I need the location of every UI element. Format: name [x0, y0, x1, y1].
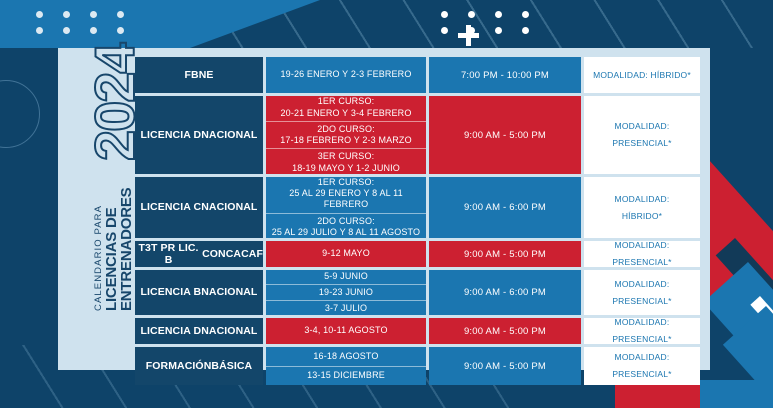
date-entry: 16-18 AGOSTO — [266, 347, 426, 366]
time-cell: 9:00 AM - 6:00 PM — [429, 270, 581, 315]
modality-line: PRESENCIAL* — [612, 135, 671, 152]
date-entry: 3-4, 10-11 AGOSTO — [266, 318, 426, 344]
modality-line: MODALIDAD: PRESENCIAL* — [584, 349, 700, 383]
vertical-title-block: CALENDARIO PARA LICENCIAS DE ENTRENADORE… — [67, 57, 135, 361]
course-name-line: LICENCIA B — [141, 286, 202, 298]
date-entry: 3ER CURSO:18-19 MAYO Y 1-2 JUNIO — [266, 148, 426, 176]
course-name-cell: LICENCIA DNACIONAL — [135, 318, 263, 344]
date-entry-label: 1ER CURSO: — [318, 96, 375, 107]
table-row: T3T PR LIC. BCONCACAF9-12 MAYO9:00 AM - … — [135, 241, 700, 267]
course-name-cell: FBNE — [135, 57, 263, 93]
date-entry-label: 3ER CURSO: — [318, 151, 375, 162]
modality-cell: MODALIDAD: HÍBRIDO* — [584, 57, 700, 93]
dates-cell: 19-26 ENERO Y 2-3 FEBRERO — [266, 57, 426, 93]
modality-line: HÍBRIDO* — [622, 208, 662, 225]
date-entry-label: 2DO CURSO: — [317, 216, 375, 227]
dates-cell: 1ER CURSO:20-21 ENERO Y 3-4 FEBRERO2DO C… — [266, 96, 426, 174]
title-line-licencias: LICENCIAS DE — [104, 208, 119, 311]
course-name-line: CONCACAF — [202, 248, 263, 260]
course-name-line: LICENCIA C — [141, 201, 202, 213]
dates-cell: 9-12 MAYO — [266, 241, 426, 267]
course-name-line: FBNE — [185, 69, 214, 81]
dates-cell: 16-18 AGOSTO13-15 DICIEMBRE — [266, 347, 426, 385]
table-row: FORMACIÓNBÁSICA16-18 AGOSTO13-15 DICIEMB… — [135, 347, 700, 385]
table-row: FBNE19-26 ENERO Y 2-3 FEBRERO7:00 PM - 1… — [135, 57, 700, 93]
course-name-cell: FORMACIÓNBÁSICA — [135, 347, 263, 385]
course-name-line: T3T PR LIC. B — [135, 242, 202, 266]
course-name-cell: LICENCIA CNACIONAL — [135, 177, 263, 238]
date-entry: 2DO CURSO:17-18 FEBRERO Y 2-3 MARZO — [266, 121, 426, 149]
title-line-entrenadores: ENTRENADORES — [119, 188, 134, 311]
title-line-calendario: CALENDARIO PARA — [94, 205, 104, 311]
date-entry-value: 19-26 ENERO Y 2-3 FEBRERO — [281, 69, 412, 80]
time-cell: 9:00 AM - 5:00 PM — [429, 241, 581, 267]
modality-cell: MODALIDAD:PRESENCIAL* — [584, 96, 700, 174]
time-cell: 9:00 AM - 5:00 PM — [429, 318, 581, 344]
course-name-cell: LICENCIA BNACIONAL — [135, 270, 263, 315]
modality-line: MODALIDAD: PRESENCIAL* — [584, 314, 700, 348]
time-cell: 9:00 AM - 6:00 PM — [429, 177, 581, 238]
modality-cell: MODALIDAD: PRESENCIAL* — [584, 270, 700, 315]
time-cell: 9:00 AM - 5:00 PM — [429, 96, 581, 174]
modality-cell: MODALIDAD: PRESENCIAL* — [584, 347, 700, 385]
course-name-line: LICENCIA D — [141, 129, 202, 141]
course-name-line: NACIONAL — [201, 201, 257, 213]
date-entry-value: 5-9 JUNIO — [324, 271, 368, 282]
date-entry-value: 25 AL 29 ENERO Y 8 AL 11 FEBRERO — [269, 188, 423, 211]
date-entry-label: 1ER CURSO: — [318, 177, 375, 188]
date-entry: 5-9 JUNIO — [266, 269, 426, 284]
dates-cell: 3-4, 10-11 AGOSTO — [266, 318, 426, 344]
time-cell: 9:00 AM - 5:00 PM — [429, 347, 581, 385]
date-entry-value: 18-19 MAYO Y 1-2 JUNIO — [292, 163, 400, 174]
date-entry-value: 25 AL 29 JULIO Y 8 AL 11 AGOSTO — [272, 227, 420, 238]
date-entry: 2DO CURSO:25 AL 29 JULIO Y 8 AL 11 AGOST… — [266, 213, 426, 241]
date-entry: 19-26 ENERO Y 2-3 FEBRERO — [266, 57, 426, 93]
dates-cell: 5-9 JUNIO19-23 JUNIO3-7 JULIO — [266, 270, 426, 315]
year-label: 2024 — [87, 44, 143, 161]
corner-accent-blue — [700, 380, 773, 408]
date-entry-value: 13-15 DICIEMBRE — [307, 370, 385, 381]
modality-line: MODALIDAD: PRESENCIAL* — [584, 276, 700, 310]
modality-cell: MODALIDAD:HÍBRIDO* — [584, 177, 700, 238]
date-entry-value: 19-23 JUNIO — [319, 287, 373, 298]
date-entry-value: 20-21 ENERO Y 3-4 FEBRERO — [281, 108, 412, 119]
time-cell: 7:00 PM - 10:00 PM — [429, 57, 581, 93]
dot-grid-icon-middle — [441, 11, 529, 34]
course-name-line: BÁSICA — [211, 360, 252, 372]
course-name-line: LICENCIA D — [141, 325, 202, 337]
date-entry-value: 9-12 MAYO — [322, 248, 370, 259]
date-entry-value: 16-18 AGOSTO — [313, 351, 378, 362]
date-entry: 3-7 JULIO — [266, 300, 426, 316]
modality-line: MODALIDAD: PRESENCIAL* — [584, 237, 700, 271]
course-name-line: NACIONAL — [201, 325, 257, 337]
calendar-card: CALENDARIO PARA LICENCIAS DE ENTRENADORE… — [58, 48, 710, 370]
date-entry-value: 3-7 JULIO — [325, 303, 367, 314]
schedule-table: FBNE19-26 ENERO Y 2-3 FEBRERO7:00 PM - 1… — [135, 57, 700, 361]
course-name-line: FORMACIÓN — [146, 360, 212, 372]
modality-cell: MODALIDAD: PRESENCIAL* — [584, 318, 700, 344]
date-entry: 9-12 MAYO — [266, 241, 426, 267]
table-row: LICENCIA DNACIONAL3-4, 10-11 AGOSTO9:00 … — [135, 318, 700, 344]
modality-line: MODALIDAD: HÍBRIDO* — [593, 67, 691, 84]
table-row: LICENCIA BNACIONAL5-9 JUNIO19-23 JUNIO3-… — [135, 270, 700, 315]
date-entry: 13-15 DICIEMBRE — [266, 366, 426, 386]
date-entry: 1ER CURSO:20-21 ENERO Y 3-4 FEBRERO — [266, 94, 426, 121]
course-name-line: NACIONAL — [201, 286, 257, 298]
table-row: LICENCIA CNACIONAL1ER CURSO:25 AL 29 ENE… — [135, 177, 700, 238]
modality-line: MODALIDAD: — [615, 118, 670, 135]
course-name-cell: T3T PR LIC. BCONCACAF — [135, 241, 263, 267]
table-row: LICENCIA DNACIONAL1ER CURSO:20-21 ENERO … — [135, 96, 700, 174]
date-entry-label: 2DO CURSO: — [317, 124, 375, 135]
course-name-line: NACIONAL — [201, 129, 257, 141]
date-entry: 19-23 JUNIO — [266, 284, 426, 300]
modality-cell: MODALIDAD: PRESENCIAL* — [584, 241, 700, 267]
date-entry-value: 17-18 FEBRERO Y 2-3 MARZO — [280, 135, 411, 146]
date-entry-value: 3-4, 10-11 AGOSTO — [304, 325, 387, 336]
dates-cell: 1ER CURSO:25 AL 29 ENERO Y 8 AL 11 FEBRE… — [266, 177, 426, 238]
modality-line: MODALIDAD: — [615, 191, 670, 208]
dot-grid-icon-left — [36, 11, 124, 34]
date-entry: 1ER CURSO:25 AL 29 ENERO Y 8 AL 11 FEBRE… — [266, 175, 426, 213]
course-name-cell: LICENCIA DNACIONAL — [135, 96, 263, 174]
plus-icon — [458, 25, 479, 46]
